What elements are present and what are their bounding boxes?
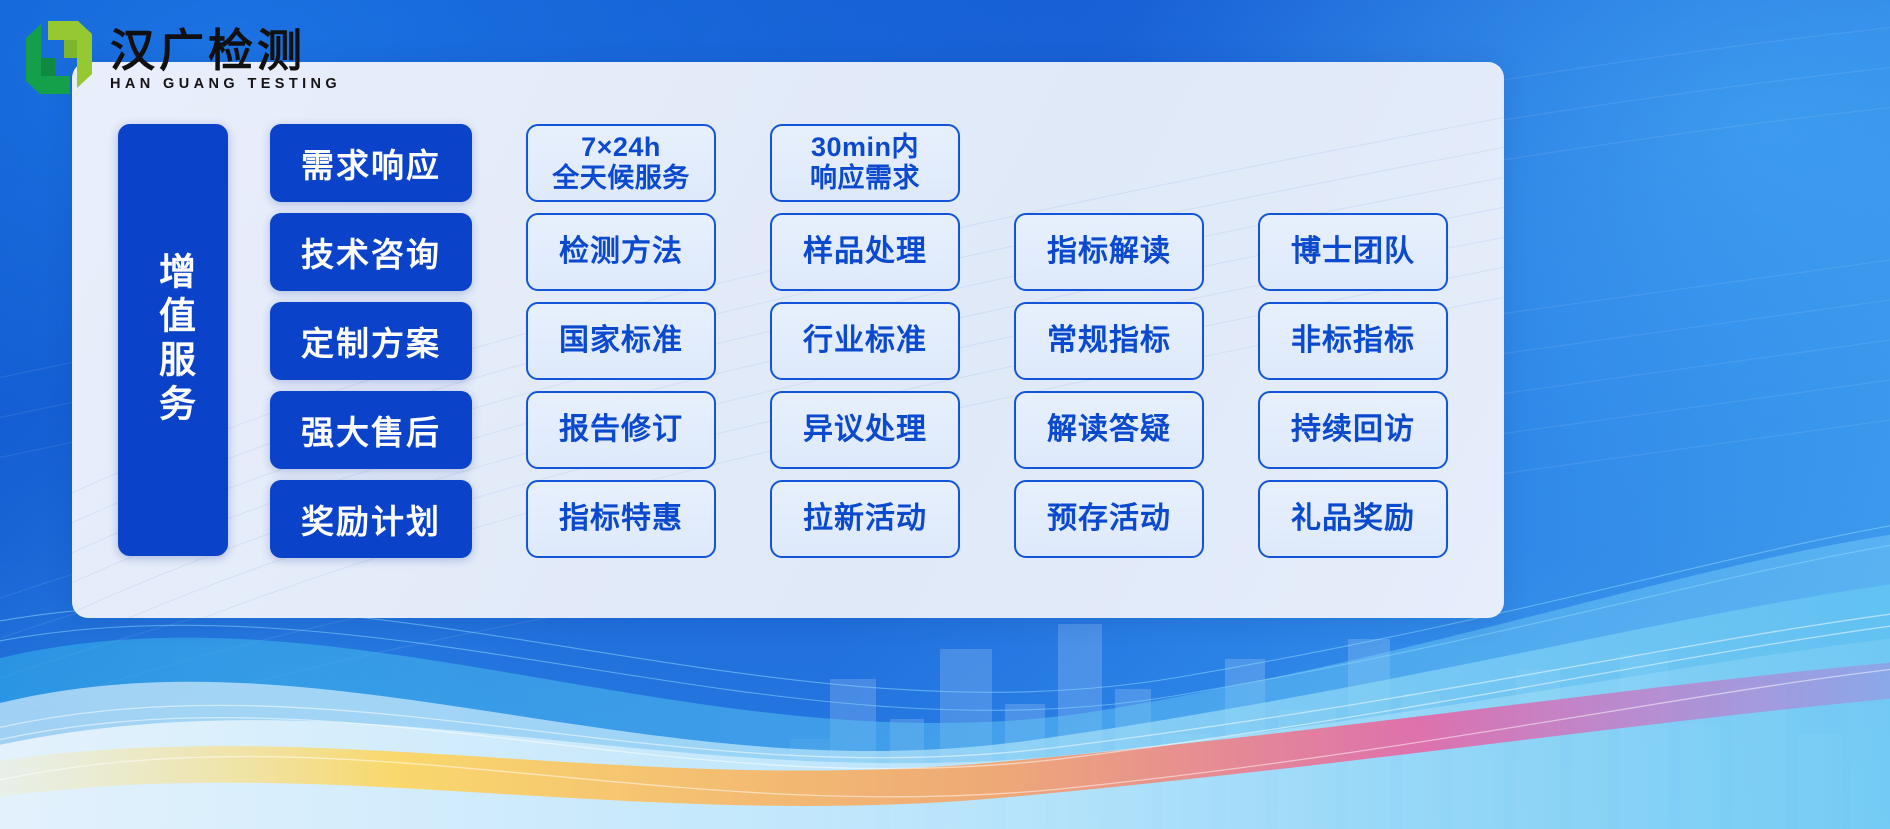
service-cell-placeholder (1258, 124, 1448, 202)
cell-line-1: 指标特惠 (559, 502, 683, 536)
brand-logo: 汉广检测 HAN GUANG TESTING (22, 18, 341, 102)
cell-line-1: 礼品奖励 (1291, 502, 1415, 536)
row-cells: 指标特惠 拉新活动 预存活动 礼品奖励 (526, 480, 1448, 558)
service-row: 定制方案 国家标准 行业标准 常规指标 非标指标 (270, 302, 1448, 380)
service-cell[interactable]: 礼品奖励 (1258, 480, 1448, 558)
cell-line-1: 报告修订 (559, 413, 683, 447)
cell-line-1: 指标解读 (1047, 235, 1171, 269)
cell-line-2: 全天候服务 (552, 163, 690, 194)
category-button[interactable]: 需求响应 (270, 124, 472, 202)
service-cell[interactable]: 报告修订 (526, 391, 716, 469)
brand-name-en: HAN GUANG TESTING (110, 77, 341, 92)
poster-canvas: 汉广检测 HAN GUANG TESTING 增值服务 (0, 0, 1890, 829)
cell-line-2: 响应需求 (810, 163, 920, 194)
cell-line-1: 解读答疑 (1047, 413, 1171, 447)
service-cell[interactable]: 检测方法 (526, 213, 716, 291)
cell-line-1: 样品处理 (803, 235, 927, 269)
category-button[interactable]: 强大售后 (270, 391, 472, 469)
service-cell[interactable]: 7×24h 全天候服务 (526, 124, 716, 202)
row-cells: 7×24h 全天候服务 30min内 响应需求 (526, 124, 1448, 202)
cell-line-1: 30min内 (811, 132, 919, 163)
cell-line-1: 非标指标 (1291, 324, 1415, 358)
service-cell-placeholder (1014, 124, 1204, 202)
services-grid: 增值服务 需求响应 7×24h 全天候服务 30min内 响应需求 (118, 124, 1448, 558)
service-cell[interactable]: 解读答疑 (1014, 391, 1204, 469)
service-cell[interactable]: 异议处理 (770, 391, 960, 469)
service-row: 技术咨询 检测方法 样品处理 指标解读 博士团队 (270, 213, 1448, 291)
vertical-tab-value-added-services[interactable]: 增值服务 (118, 124, 228, 556)
service-cell[interactable]: 国家标准 (526, 302, 716, 380)
cell-line-1: 检测方法 (559, 235, 683, 269)
service-rows: 需求响应 7×24h 全天候服务 30min内 响应需求 (270, 124, 1448, 558)
cell-line-1: 博士团队 (1291, 235, 1415, 269)
brand-name-cn: 汉广检测 (110, 28, 341, 75)
row-cells: 报告修订 异议处理 解读答疑 持续回访 (526, 391, 1448, 469)
row-cells: 国家标准 行业标准 常规指标 非标指标 (526, 302, 1448, 380)
cell-line-1: 持续回访 (1291, 413, 1415, 447)
cell-line-1: 预存活动 (1047, 502, 1171, 536)
h-arrows-logo-icon (22, 18, 96, 102)
cell-line-1: 拉新活动 (803, 502, 927, 536)
service-cell[interactable]: 指标特惠 (526, 480, 716, 558)
service-cell[interactable]: 常规指标 (1014, 302, 1204, 380)
service-row: 奖励计划 指标特惠 拉新活动 预存活动 礼品奖励 (270, 480, 1448, 558)
services-panel: 增值服务 需求响应 7×24h 全天候服务 30min内 响应需求 (72, 62, 1504, 618)
cell-line-1: 异议处理 (803, 413, 927, 447)
service-cell[interactable]: 行业标准 (770, 302, 960, 380)
service-cell[interactable]: 30min内 响应需求 (770, 124, 960, 202)
service-cell[interactable]: 预存活动 (1014, 480, 1204, 558)
service-cell[interactable]: 持续回访 (1258, 391, 1448, 469)
service-cell[interactable]: 博士团队 (1258, 213, 1448, 291)
vertical-tab-label: 增值服务 (152, 252, 195, 428)
service-cell[interactable]: 拉新活动 (770, 480, 960, 558)
category-button[interactable]: 技术咨询 (270, 213, 472, 291)
category-button[interactable]: 奖励计划 (270, 480, 472, 558)
cell-line-1: 7×24h (581, 132, 661, 163)
service-row: 需求响应 7×24h 全天候服务 30min内 响应需求 (270, 124, 1448, 202)
service-cell[interactable]: 非标指标 (1258, 302, 1448, 380)
cell-line-1: 常规指标 (1047, 324, 1171, 358)
cell-line-1: 国家标准 (559, 324, 683, 358)
brand-wordmark: 汉广检测 HAN GUANG TESTING (110, 28, 341, 91)
service-row: 强大售后 报告修订 异议处理 解读答疑 持续回访 (270, 391, 1448, 469)
row-cells: 检测方法 样品处理 指标解读 博士团队 (526, 213, 1448, 291)
category-button[interactable]: 定制方案 (270, 302, 472, 380)
service-cell[interactable]: 指标解读 (1014, 213, 1204, 291)
cell-line-1: 行业标准 (803, 324, 927, 358)
service-cell[interactable]: 样品处理 (770, 213, 960, 291)
